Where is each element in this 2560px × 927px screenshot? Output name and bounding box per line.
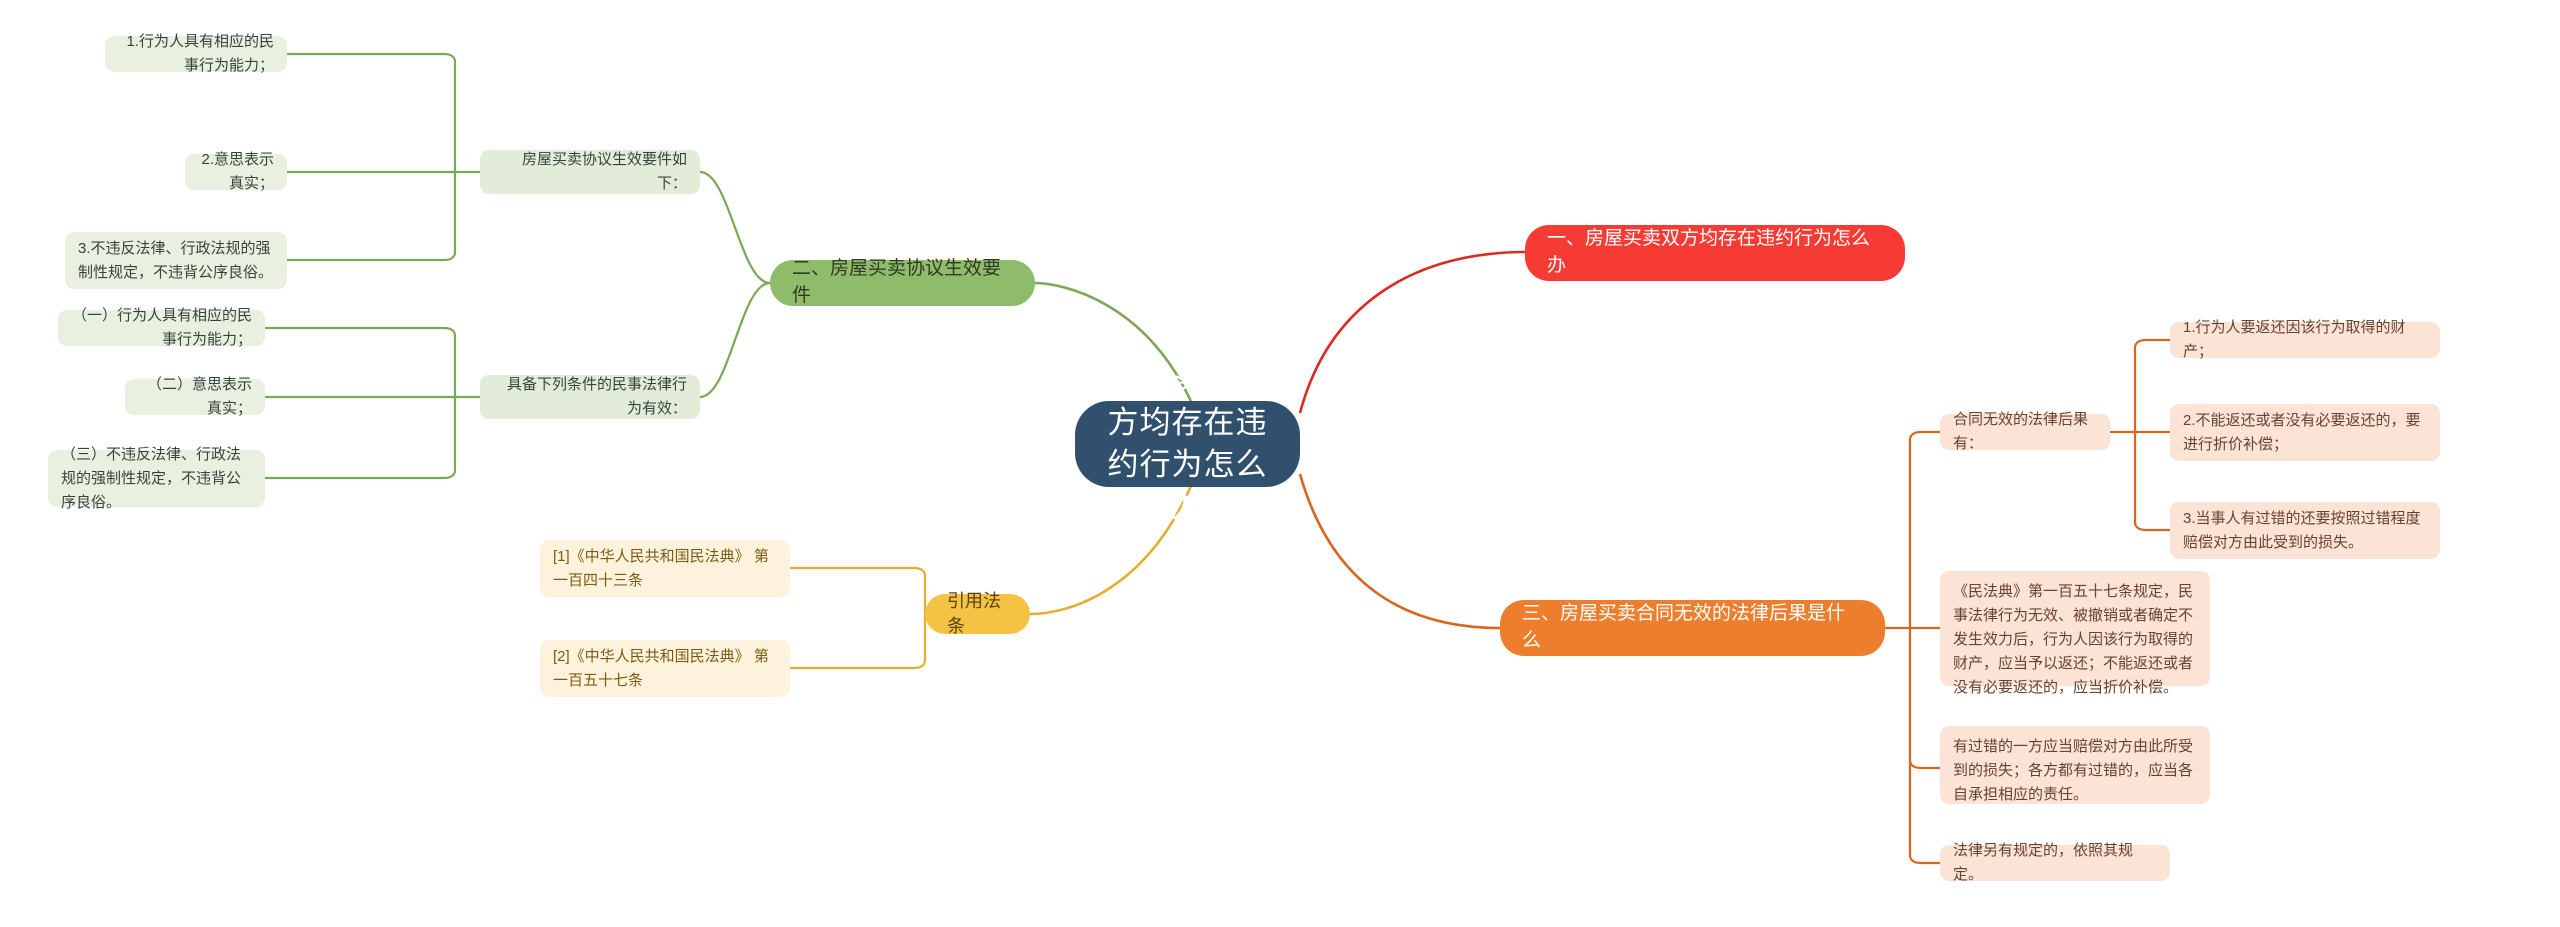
- branch-red-label: 一、房屋买卖双方均存在违约行为怎么办: [1547, 226, 1883, 279]
- citation-item-2-text: [2]《中华人民共和国民法典》 第一百五十七条: [553, 645, 777, 693]
- mindmap-canvas: 房屋买卖双方均存在违约行为怎么办 二、房屋买卖协议生效要件 房屋买卖协议生效要件…: [0, 0, 2560, 927]
- green-group-2-item-1-text: （一）行为人具有相应的民事行为能力；: [71, 304, 252, 352]
- consequence-item-1-text: 1.行为人要返还因该行为取得的财产；: [2183, 316, 2427, 364]
- green-group-2-item-2-text: （二）意思表示真实；: [138, 373, 252, 421]
- root-node[interactable]: 房屋买卖双方均存在违约行为怎么办: [1075, 401, 1300, 487]
- consequence-item-3[interactable]: 3.当事人有过错的还要按照过错程度赔偿对方由此受到的损失。: [2170, 502, 2440, 559]
- green-group-2-item-2[interactable]: （二）意思表示真实；: [125, 379, 265, 415]
- orange-child-consequences-label-text: 合同无效的法律后果有：: [1953, 408, 2097, 456]
- consequence-item-2[interactable]: 2.不能返还或者没有必要返还的，要进行折价补偿；: [2170, 404, 2440, 461]
- orange-child-fault-liability[interactable]: 有过错的一方应当赔偿对方由此所受到的损失；各方都有过错的，应当各自承担相应的责任…: [1940, 726, 2210, 804]
- branch-orange-label: 三、房屋买卖合同无效的法律后果是什么: [1522, 601, 1863, 654]
- green-group-1-item-2[interactable]: 2.意思表示真实；: [185, 154, 287, 190]
- green-group-1-label-text: 房屋买卖协议生效要件如下：: [493, 148, 687, 196]
- green-group-2-item-1[interactable]: （一）行为人具有相应的民事行为能力；: [58, 310, 265, 346]
- consequence-item-3-text: 3.当事人有过错的还要按照过错程度赔偿对方由此受到的损失。: [2183, 507, 2427, 555]
- root-label: 房屋买卖双方均存在违约行为怎么办: [1101, 360, 1274, 527]
- orange-child-article-157-text: 《民法典》第一百五十七条规定，民事法律行为无效、被撤销或者确定不发生效力后，行为…: [1953, 580, 2197, 700]
- citation-item-1-text: [1]《中华人民共和国民法典》 第一百四十三条: [553, 545, 777, 593]
- green-group-1-item-1[interactable]: 1.行为人具有相应的民事行为能力；: [105, 36, 287, 72]
- green-group-2-item-3[interactable]: （三）不违反法律、行政法规的强制性规定，不违背公序良俗。: [48, 450, 265, 507]
- orange-child-fault-liability-text: 有过错的一方应当赔偿对方由此所受到的损失；各方都有过错的，应当各自承担相应的责任…: [1953, 735, 2197, 807]
- consequence-item-1[interactable]: 1.行为人要返还因该行为取得的财产；: [2170, 322, 2440, 358]
- branch-green[interactable]: 二、房屋买卖协议生效要件: [770, 260, 1035, 306]
- green-group-1-item-2-text: 2.意思表示真实；: [198, 148, 274, 196]
- green-group-2-label[interactable]: 具备下列条件的民事法律行为有效：: [480, 375, 700, 419]
- orange-child-article-157[interactable]: 《民法典》第一百五十七条规定，民事法律行为无效、被撤销或者确定不发生效力后，行为…: [1940, 571, 2210, 686]
- green-group-1-item-3[interactable]: 3.不违反法律、行政法规的强制性规定，不违背公序良俗。: [65, 232, 287, 289]
- citation-item-2[interactable]: [2]《中华人民共和国民法典》 第一百五十七条: [540, 640, 790, 697]
- branch-yellow-label: 引用法条: [947, 589, 1008, 639]
- citation-item-1[interactable]: [1]《中华人民共和国民法典》 第一百四十三条: [540, 540, 790, 597]
- branch-yellow[interactable]: 引用法条: [925, 594, 1030, 634]
- branch-green-label: 二、房屋买卖协议生效要件: [792, 256, 1013, 309]
- green-group-2-label-text: 具备下列条件的民事法律行为有效：: [493, 373, 687, 421]
- orange-child-other-laws-text: 法律另有规定的，依照其规定。: [1953, 839, 2157, 887]
- consequence-item-2-text: 2.不能返还或者没有必要返还的，要进行折价补偿；: [2183, 409, 2427, 457]
- green-group-1-item-3-text: 3.不违反法律、行政法规的强制性规定，不违背公序良俗。: [78, 237, 274, 285]
- branch-red[interactable]: 一、房屋买卖双方均存在违约行为怎么办: [1525, 225, 1905, 281]
- green-group-1-item-1-text: 1.行为人具有相应的民事行为能力；: [118, 30, 274, 78]
- branch-orange[interactable]: 三、房屋买卖合同无效的法律后果是什么: [1500, 600, 1885, 656]
- orange-child-other-laws[interactable]: 法律另有规定的，依照其规定。: [1940, 845, 2170, 881]
- orange-child-consequences-label[interactable]: 合同无效的法律后果有：: [1940, 414, 2110, 450]
- green-group-1-label[interactable]: 房屋买卖协议生效要件如下：: [480, 150, 700, 194]
- green-group-2-item-3-text: （三）不违反法律、行政法规的强制性规定，不违背公序良俗。: [61, 443, 252, 515]
